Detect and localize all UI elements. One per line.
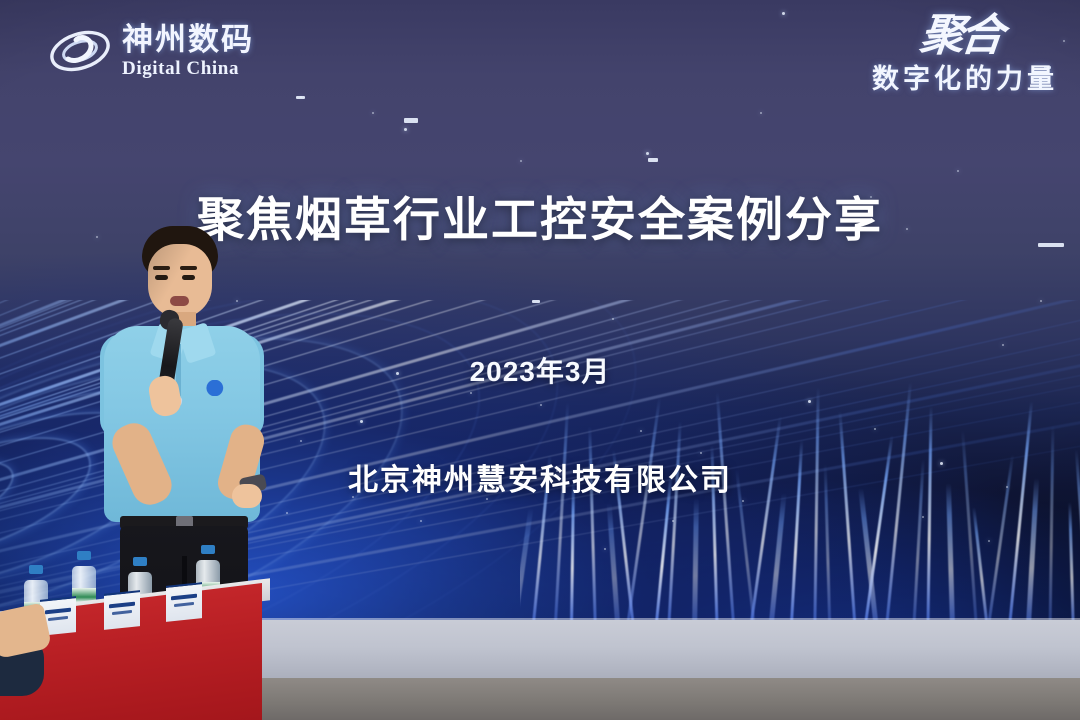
speaker-brow-right	[180, 266, 197, 270]
digital-china-swirl-icon	[48, 22, 112, 80]
speaker-mouth	[170, 296, 189, 306]
speaker-hand-right	[232, 484, 262, 508]
speaker-eye-right	[182, 275, 195, 280]
logo-name-en: Digital China	[122, 59, 254, 78]
event-slogan: 聚合 数字化的力量	[872, 18, 1058, 96]
speaker-brow-left	[153, 266, 170, 270]
speaker-eye-left	[155, 275, 168, 280]
speaker-chest-logo	[206, 380, 228, 396]
speaker-face-shading	[148, 244, 212, 318]
name-card	[104, 590, 140, 630]
speaker-figure	[96, 226, 268, 626]
slogan-calligraphy: 聚合	[918, 18, 1060, 54]
digital-china-logo: 神州数码 Digital China	[48, 22, 254, 80]
name-card	[166, 582, 202, 622]
logo-name-cn: 神州数码	[122, 24, 254, 55]
conference-photo: 神州数码 Digital China 聚合 数字化的力量 聚焦烟草行业工控安全案…	[0, 0, 1080, 720]
slogan-subtitle: 数字化的力量	[872, 57, 1058, 96]
